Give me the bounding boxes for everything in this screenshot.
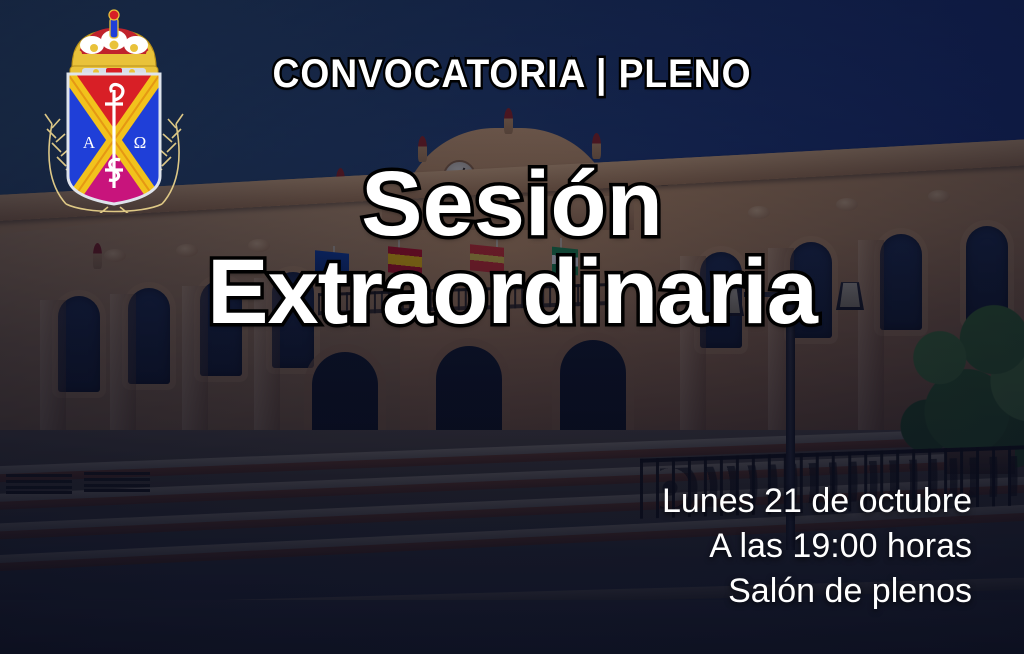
- event-place: Salón de plenos: [662, 569, 972, 614]
- event-details: Lunes 21 de octubre A las 19:00 horas Sa…: [662, 479, 972, 614]
- event-date: Lunes 21 de octubre: [662, 479, 972, 524]
- headline: Sesión Extraordinaria: [0, 160, 1024, 337]
- poster-canvas: A Ω CONVOCATORIA | PLENO Sesión Extraord…: [0, 0, 1024, 654]
- charge-letter-alpha: A: [83, 133, 96, 152]
- charge-letter-omega: Ω: [134, 133, 147, 152]
- headline-line-1: Sesión: [0, 160, 1024, 248]
- kicker-title: CONVOCATORIA | PLENO: [36, 52, 988, 97]
- event-time: A las 19:00 horas: [662, 524, 972, 569]
- headline-line-2: Extraordinaria: [0, 248, 1024, 336]
